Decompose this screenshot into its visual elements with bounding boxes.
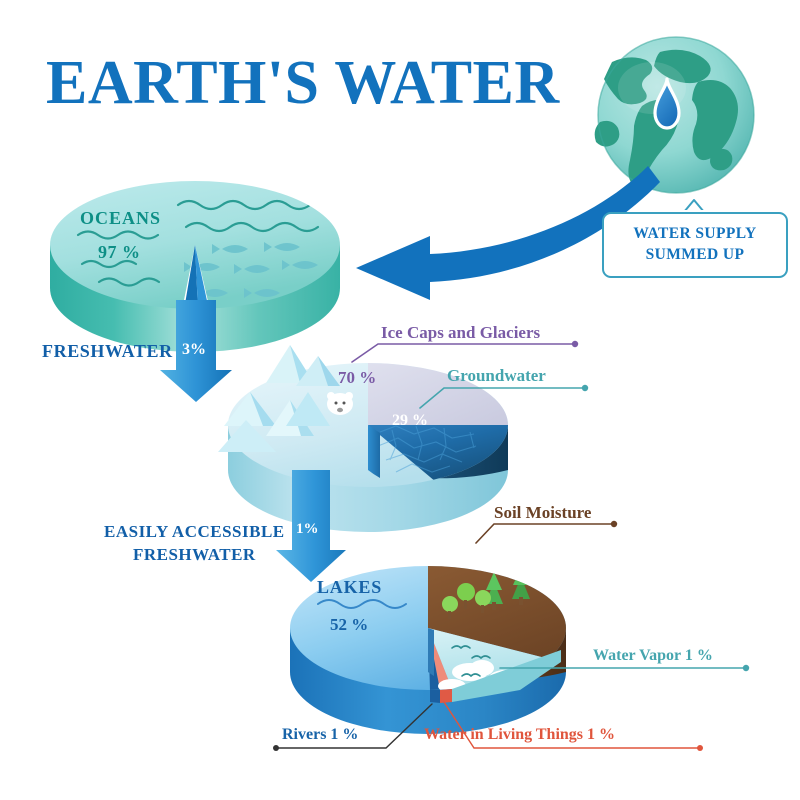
- lakes-percent: 52 %: [330, 615, 368, 635]
- callout-box: WATER SUPPLY SUMMED UP: [602, 212, 788, 278]
- infographic-canvas: EARTH'S WATER WATER SUPPLY SUMMED UP OCE…: [0, 0, 800, 800]
- water-vapor-label: Water Vapor 1 %: [593, 647, 713, 665]
- freshwater-percent: 3%: [182, 341, 206, 359]
- freshwater-label: FRESHWATER: [42, 341, 173, 362]
- leader-ice-caps: [352, 344, 573, 362]
- water-in-living-things-label: Water in Living Things 1 %: [424, 726, 615, 744]
- groundwater-percent: 29 %: [392, 412, 428, 430]
- infographic-artwork: [0, 0, 800, 800]
- oceans-label: OCEANS: [80, 208, 161, 229]
- oceans-percent: 97 %: [98, 242, 141, 263]
- page-title: EARTH'S WATER: [46, 52, 560, 114]
- easily-accessible-percent: 1%: [296, 521, 319, 538]
- callout-line-1: WATER SUPPLY: [633, 224, 756, 245]
- groundwater-label: Groundwater: [447, 366, 546, 386]
- ice-caps-percent: 70 %: [338, 368, 376, 388]
- easy-label-line-2: FRESHWATER: [104, 544, 285, 567]
- easily-accessible-freshwater-label: EASILY ACCESSIBLE FRESHWATER: [104, 521, 285, 567]
- soil-moisture-label: Soil Moisture: [494, 503, 591, 523]
- globe-icon: [595, 37, 754, 193]
- leader-soil: [476, 524, 612, 543]
- polar-bear-icon: [327, 392, 353, 415]
- callout-line-2: SUMMED UP: [646, 245, 745, 266]
- rivers-label: Rivers 1 %: [282, 726, 358, 744]
- lakes-label: LAKES: [317, 577, 382, 598]
- soil-moisture-percent: 38%: [434, 546, 468, 566]
- ice-caps-label: Ice Caps and Glaciers: [381, 323, 540, 343]
- easy-label-line-1: EASILY ACCESSIBLE: [104, 521, 285, 544]
